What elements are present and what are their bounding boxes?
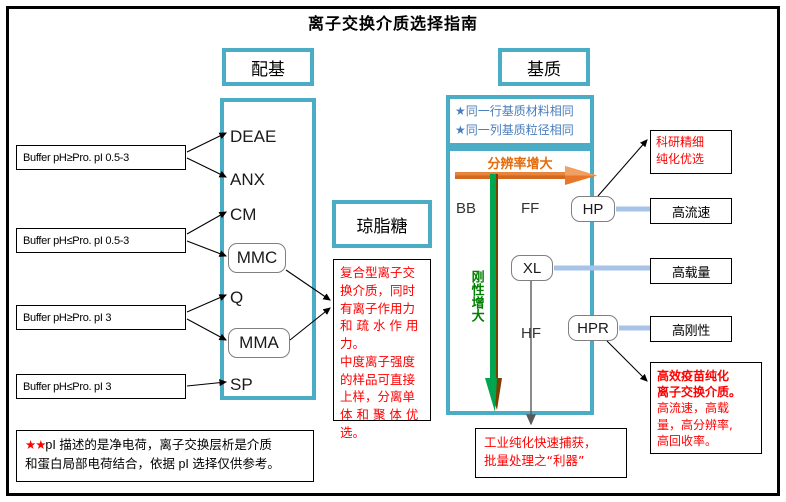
matrix-grid-panel: [446, 147, 594, 415]
agarose-note-line: 换介质，同时: [340, 282, 424, 300]
agarose-note-line: 体 和 聚 体 优: [340, 406, 424, 424]
right-label-text: 高载量: [672, 262, 710, 281]
agarose-header: 琼脂糖: [332, 200, 432, 248]
matrix-header-label: 基质: [527, 55, 561, 80]
resolution-label: 分辨率增大: [446, 153, 594, 172]
ligand-deae[interactable]: DEAE: [230, 127, 276, 147]
ligand-mmc-label: MMC: [237, 248, 278, 268]
callout-vaccine-line: 量，高分辨率,: [657, 417, 755, 433]
footnote-text-2: 和蛋白局部电荷结合，依据 pI 选择仅供参考。: [25, 455, 305, 474]
matrix-grade-hpr-label: HPR: [577, 320, 609, 337]
matrix-grade-hpr[interactable]: HPR: [568, 315, 618, 341]
matrix-grade-ff[interactable]: FF: [521, 200, 539, 217]
matrix-notes-panel: ★同一行基质材料相同 ★同一列基质粒径相同: [446, 95, 594, 147]
agarose-header-label: 琼脂糖: [357, 212, 408, 237]
page-title: 离子交换介质选择指南: [0, 10, 786, 34]
buffer-condition-label: Buffer pH≥Pro. pI 0.5-3: [23, 152, 129, 164]
right-label-text: 高流速: [672, 202, 710, 221]
matrix-note-col: ★同一列基质粒径相同: [455, 121, 590, 140]
callout-research: 科研精细 纯化优选: [650, 130, 732, 174]
buffer-condition-box-3[interactable]: Buffer pH≥Pro. pI 3: [16, 305, 186, 330]
right-label-text: 高刚性: [672, 320, 710, 339]
buffer-condition-box-2[interactable]: Buffer pH≤Pro. pI 0.5-3: [16, 228, 186, 253]
diagram-page: 离子交换介质选择指南 配基 Buffer pH≥Pro. pI 0.5-3 Bu…: [0, 0, 786, 502]
footnote-line-1: ★★pI 描述的是净电荷，离子交换层析是介质: [25, 436, 305, 455]
ligand-header: 配基: [222, 48, 314, 86]
buffer-condition-label: Buffer pH≥Pro. pI 3: [23, 312, 111, 324]
matrix-grade-xl-label: XL: [523, 260, 541, 277]
ligand-mma[interactable]: MMA: [228, 328, 290, 358]
rigidity-label: 刚性增大: [470, 270, 484, 322]
matrix-grade-xl[interactable]: XL: [511, 255, 553, 281]
callout-industrial-line: 工业纯化快速捕获，: [484, 434, 618, 452]
callout-industrial-line: 批量处理之“利器”: [484, 452, 618, 470]
agarose-note-line: 复合型离子交: [340, 264, 424, 282]
right-label-high-flow[interactable]: 高流速: [650, 198, 732, 224]
callout-industrial: 工业纯化快速捕获， 批量处理之“利器”: [475, 428, 627, 478]
matrix-header: 基质: [498, 48, 590, 86]
footnote-stars: ★★: [25, 438, 45, 452]
matrix-grade-bb[interactable]: BB: [456, 200, 476, 217]
callout-vaccine: 高效疫苗纯化 离子交换介质。 高流速，高载 量，高分辨率, 高回收率。: [650, 362, 762, 454]
agarose-note-box: 复合型离子交 换介质，同时 有离子作用力 和 疏 水 作 用 力。 中度离子强度…: [333, 259, 431, 421]
callout-research-line: 科研精细: [656, 134, 726, 151]
ligand-sp[interactable]: SP: [230, 375, 253, 395]
buffer-condition-box-4[interactable]: Buffer pH≤Pro. pI 3: [16, 374, 186, 399]
buffer-condition-box-1[interactable]: Buffer pH≥Pro. pI 0.5-3: [16, 145, 186, 170]
agarose-note-line: 的样品可直接: [340, 371, 424, 389]
callout-vaccine-line: 高流速，高载: [657, 400, 755, 416]
agarose-note-line: 和 疏 水 作 用: [340, 317, 424, 335]
footnote-text-1: pI 描述的是净电荷，离子交换层析是介质: [45, 438, 271, 452]
matrix-grade-hp[interactable]: HP: [571, 196, 615, 222]
agarose-note-line: 中度离子强度: [340, 353, 424, 371]
buffer-condition-label: Buffer pH≤Pro. pI 3: [23, 381, 111, 393]
callout-vaccine-line: 高回收率。: [657, 433, 755, 449]
matrix-note-row: ★同一行基质材料相同: [455, 102, 590, 121]
callout-research-line: 纯化优选: [656, 151, 726, 168]
callout-vaccine-line: 高效疫苗纯化: [657, 368, 755, 384]
callout-vaccine-line: 离子交换介质。: [657, 384, 755, 400]
agarose-note-line: 选。: [340, 424, 424, 442]
ligand-header-label: 配基: [251, 55, 285, 80]
rigidity-label-text: 刚性增大: [470, 270, 484, 322]
matrix-grade-hp-label: HP: [583, 201, 604, 218]
agarose-note-line: 力。: [340, 335, 424, 353]
agarose-note-line: 上样，分离单: [340, 388, 424, 406]
right-label-high-rigidity[interactable]: 高刚性: [650, 316, 732, 342]
agarose-note-line: 有离子作用力: [340, 300, 424, 318]
ligand-anx[interactable]: ANX: [230, 170, 265, 190]
footnote-box: ★★pI 描述的是净电荷，离子交换层析是介质 和蛋白局部电荷结合，依据 pI 选…: [16, 430, 314, 482]
buffer-condition-label: Buffer pH≤Pro. pI 0.5-3: [23, 235, 129, 247]
ligand-q[interactable]: Q: [230, 288, 243, 308]
ligand-cm[interactable]: CM: [230, 205, 256, 225]
ligand-mma-label: MMA: [239, 333, 279, 353]
ligand-mmc[interactable]: MMC: [228, 243, 286, 273]
matrix-grade-hf[interactable]: HF: [521, 325, 541, 342]
right-label-high-capacity[interactable]: 高载量: [650, 258, 732, 284]
